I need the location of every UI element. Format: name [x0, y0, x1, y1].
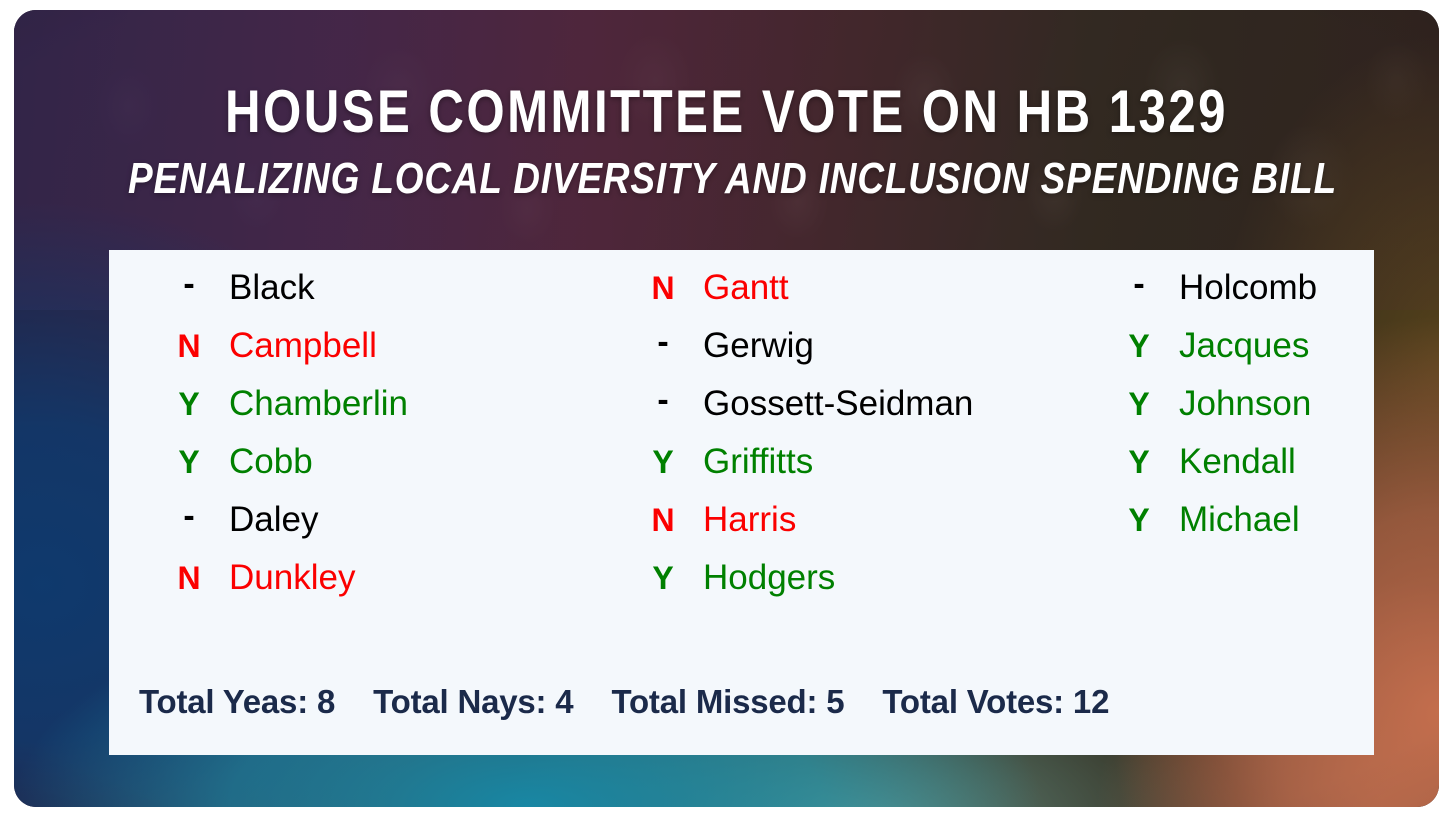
- vote-row: YJacques: [1109, 326, 1374, 384]
- vote-mark: N: [633, 270, 693, 307]
- vote-row: YCobb: [159, 442, 586, 500]
- legislator-name: Gossett-Seidman: [693, 384, 973, 424]
- vote-mark: -: [633, 323, 693, 362]
- vote-mark: Y: [633, 560, 693, 597]
- vote-grid: -BlackNCampbellYChamberlinYCobb-DaleyNDu…: [109, 268, 1374, 616]
- legislator-name: Daley: [219, 500, 318, 540]
- vote-row: -Daley: [159, 500, 586, 558]
- total-item: Total Missed: 5: [611, 683, 844, 721]
- vote-row: NCampbell: [159, 326, 586, 384]
- vote-row: YMichael: [1109, 500, 1374, 558]
- legislator-name: Griffitts: [693, 442, 813, 482]
- vote-row: YChamberlin: [159, 384, 586, 442]
- total-item: Total Nays: 4: [373, 683, 573, 721]
- vote-mark: Y: [1109, 502, 1169, 539]
- vote-row: -Black: [159, 268, 586, 326]
- vote-mark: -: [1109, 265, 1169, 304]
- legislator-name: Gantt: [693, 268, 789, 308]
- totals-row: Total Yeas: 8Total Nays: 4Total Missed: …: [139, 683, 1109, 721]
- legislator-name: Chamberlin: [219, 384, 408, 424]
- vote-mark: N: [159, 328, 219, 365]
- vote-column-1: -BlackNCampbellYChamberlinYCobb-DaleyNDu…: [109, 268, 586, 616]
- total-item: Total Votes: 12: [882, 683, 1109, 721]
- vote-mark: Y: [1109, 444, 1169, 481]
- vote-row: -Holcomb: [1109, 268, 1374, 326]
- legislator-name: Johnson: [1169, 384, 1311, 424]
- legislator-name: Jacques: [1169, 326, 1309, 366]
- vote-mark: -: [633, 381, 693, 420]
- page-subtitle: PENALIZING LOCAL DIVERSITY AND INCLUSION…: [128, 152, 1325, 206]
- vote-column-3: -HolcombYJacquesYJohnsonYKendallYMichael: [1064, 268, 1374, 616]
- vote-row: NDunkley: [159, 558, 586, 616]
- legislator-name: Cobb: [219, 442, 313, 482]
- vote-mark: Y: [159, 444, 219, 481]
- vote-row: YGriffitts: [633, 442, 1064, 500]
- vote-row: -Gerwig: [633, 326, 1064, 384]
- vote-mark: Y: [633, 444, 693, 481]
- legislator-name: Holcomb: [1169, 268, 1317, 308]
- vote-mark: N: [159, 560, 219, 597]
- legislator-name: Michael: [1169, 500, 1300, 540]
- vote-row: YKendall: [1109, 442, 1374, 500]
- vote-row: YJohnson: [1109, 384, 1374, 442]
- legislator-name: Campbell: [219, 326, 377, 366]
- legislator-name: Gerwig: [693, 326, 814, 366]
- legislator-name: Harris: [693, 500, 796, 540]
- legislator-name: Black: [219, 268, 315, 308]
- vote-mark: Y: [159, 386, 219, 423]
- vote-row: NGantt: [633, 268, 1064, 326]
- vote-mark: -: [159, 497, 219, 536]
- vote-mark: N: [633, 502, 693, 539]
- vote-column-2: NGantt-Gerwig-Gossett-SeidmanYGriffittsN…: [586, 268, 1064, 616]
- vote-mark: Y: [1109, 328, 1169, 365]
- legislator-name: Kendall: [1169, 442, 1296, 482]
- page-title: HOUSE COMMITTEE VOTE ON HB 1329: [142, 78, 1311, 146]
- vote-row: NHarris: [633, 500, 1064, 558]
- slide-canvas: HOUSE COMMITTEE VOTE ON HB 1329 PENALIZI…: [0, 0, 1453, 817]
- vote-row: -Gossett-Seidman: [633, 384, 1064, 442]
- gradient-panel: HOUSE COMMITTEE VOTE ON HB 1329 PENALIZI…: [14, 10, 1439, 807]
- vote-card: -BlackNCampbellYChamberlinYCobb-DaleyNDu…: [109, 250, 1374, 755]
- vote-mark: -: [159, 265, 219, 304]
- header-block: HOUSE COMMITTEE VOTE ON HB 1329 PENALIZI…: [14, 78, 1439, 206]
- legislator-name: Dunkley: [219, 558, 355, 598]
- legislator-name: Hodgers: [693, 558, 835, 598]
- total-item: Total Yeas: 8: [139, 683, 335, 721]
- vote-row: YHodgers: [633, 558, 1064, 616]
- vote-mark: Y: [1109, 386, 1169, 423]
